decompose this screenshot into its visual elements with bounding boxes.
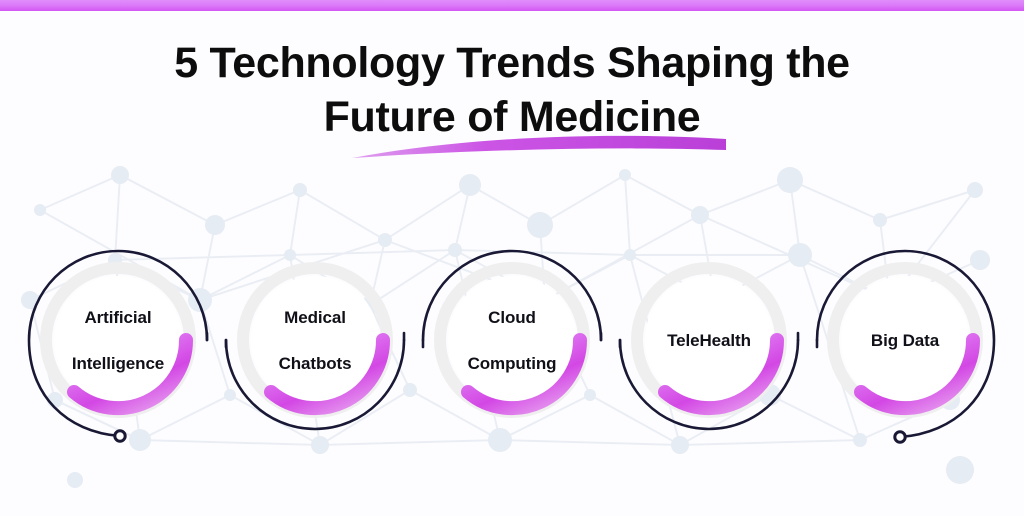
node-label-4: TeleHealth bbox=[621, 252, 797, 428]
title-line-2: Future of Medicine bbox=[0, 90, 1024, 144]
node-cloud-computing[interactable]: Cloud Computing bbox=[424, 252, 600, 428]
top-accent-bar bbox=[0, 0, 1024, 11]
node-2-line-1: Medical bbox=[273, 306, 358, 329]
node-label-2: Medical Chatbots bbox=[227, 252, 403, 428]
node-label-1: Artificial Intelligence bbox=[30, 252, 206, 428]
node-artificial-intelligence[interactable]: Artificial Intelligence bbox=[30, 252, 206, 428]
node-medical-chatbots[interactable]: Medical Chatbots bbox=[227, 252, 403, 428]
node-5-line-1: Big Data bbox=[865, 329, 945, 352]
node-label-3: Cloud Computing bbox=[424, 252, 600, 428]
page-title: 5 Technology Trends Shaping the Future o… bbox=[0, 36, 1024, 144]
node-label-5: Big Data bbox=[817, 252, 993, 428]
node-2-line-2: Chatbots bbox=[273, 352, 358, 375]
node-4-line-1: TeleHealth bbox=[661, 329, 757, 352]
node-1-line-1: Artificial bbox=[66, 306, 170, 329]
infographic-canvas: 5 Technology Trends Shaping the Future o… bbox=[0, 0, 1024, 516]
title-line-1: 5 Technology Trends Shaping the bbox=[0, 36, 1024, 90]
node-3-line-1: Cloud bbox=[462, 306, 563, 329]
node-big-data[interactable]: Big Data bbox=[817, 252, 993, 428]
node-telehealth[interactable]: TeleHealth bbox=[621, 252, 797, 428]
node-1-line-2: Intelligence bbox=[66, 352, 170, 375]
node-3-line-2: Computing bbox=[462, 352, 563, 375]
